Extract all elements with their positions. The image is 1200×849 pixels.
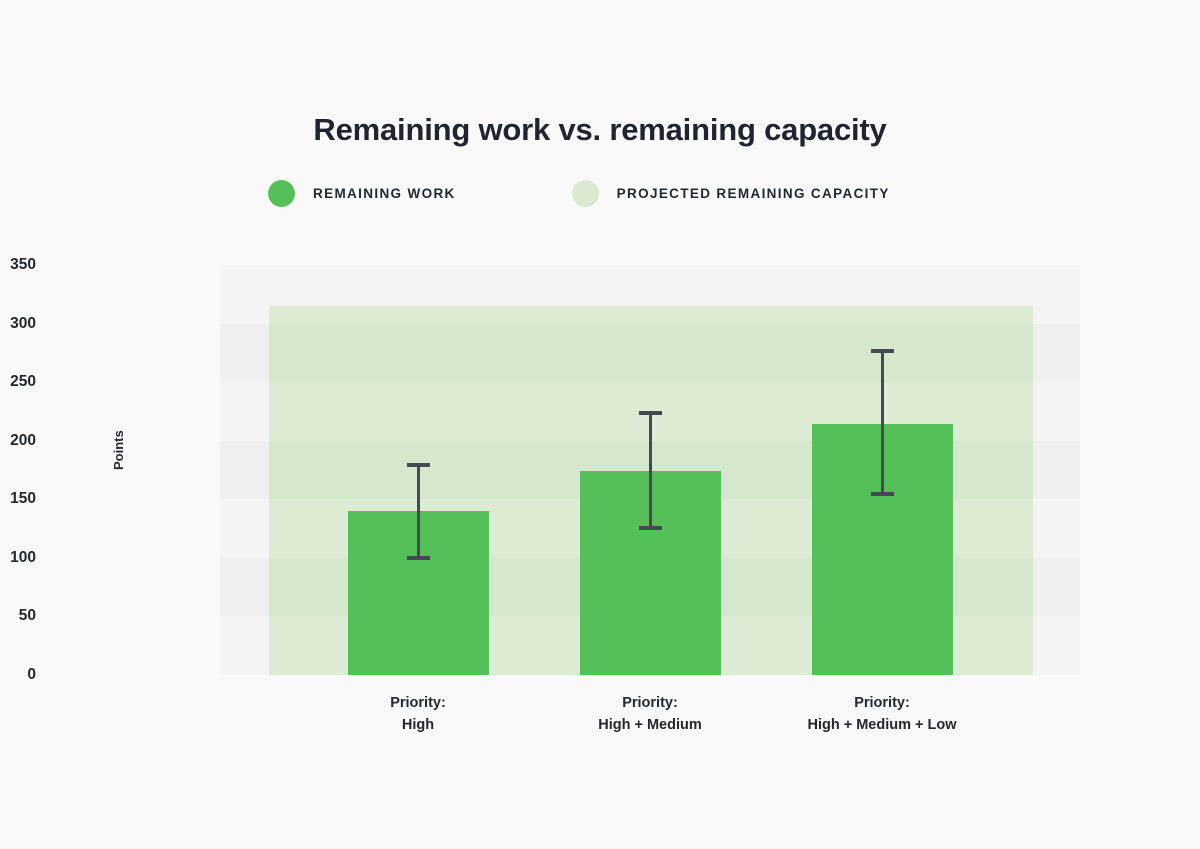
- x-axis-label-line2: High: [390, 714, 446, 736]
- error-bar-cap-upper: [639, 411, 662, 415]
- error-bar-2: [580, 411, 721, 529]
- y-axis-tick-label: 200: [0, 432, 36, 450]
- chart-title: Remaining work vs. remaining capacity: [0, 112, 1200, 148]
- y-axis-tick-label: 250: [0, 373, 36, 391]
- error-bar-stem: [417, 463, 420, 560]
- x-axis-label-line2: High + Medium + Low: [807, 714, 956, 736]
- error-bar-cap-lower: [407, 556, 430, 560]
- capacity-band-row: [269, 306, 1033, 324]
- legend-label-remaining-work: REMAINING WORK: [313, 186, 456, 201]
- error-bar-stem: [881, 349, 884, 495]
- legend-label-projected-capacity: PROJECTED REMAINING CAPACITY: [617, 186, 890, 201]
- error-bar-cap-upper: [407, 463, 430, 467]
- x-axis-label-line1: Priority:: [598, 692, 702, 714]
- y-axis-tick-label: 50: [0, 607, 36, 625]
- chart-legend: REMAINING WORK PROJECTED REMAINING CAPAC…: [268, 180, 890, 207]
- error-bar-cap-lower: [871, 492, 894, 496]
- y-axis-title: Points: [111, 430, 126, 470]
- x-axis-label-line1: Priority:: [390, 692, 446, 714]
- error-bar-1: [348, 463, 489, 560]
- error-bar-cap-upper: [871, 349, 894, 353]
- y-axis-tick-label: 150: [0, 490, 36, 508]
- legend-item-projected-capacity[interactable]: PROJECTED REMAINING CAPACITY: [572, 180, 890, 207]
- circle-swatch-icon-remaining-work: [268, 180, 295, 207]
- chart-container: Remaining work vs. remaining capacity RE…: [0, 0, 1200, 849]
- x-axis-label-line1: Priority:: [807, 692, 956, 714]
- error-bar-stem: [649, 411, 652, 529]
- y-axis-tick-label: 0: [0, 666, 36, 684]
- x-axis-label-3: Priority:High + Medium + Low: [807, 692, 956, 736]
- legend-item-remaining-work[interactable]: REMAINING WORK: [268, 180, 456, 207]
- circle-swatch-icon-projected-capacity: [572, 180, 599, 207]
- y-axis-tick-label: 100: [0, 549, 36, 567]
- plot-area: [220, 265, 1080, 675]
- y-axis-tick-label: 300: [0, 315, 36, 333]
- x-axis-label-2: Priority:High + Medium: [598, 692, 702, 736]
- error-bar-cap-lower: [639, 526, 662, 530]
- y-axis-tick-label: 350: [0, 256, 36, 274]
- x-axis-label-line2: High + Medium: [598, 714, 702, 736]
- error-bar-3: [812, 349, 953, 495]
- x-axis-label-1: Priority:High: [390, 692, 446, 736]
